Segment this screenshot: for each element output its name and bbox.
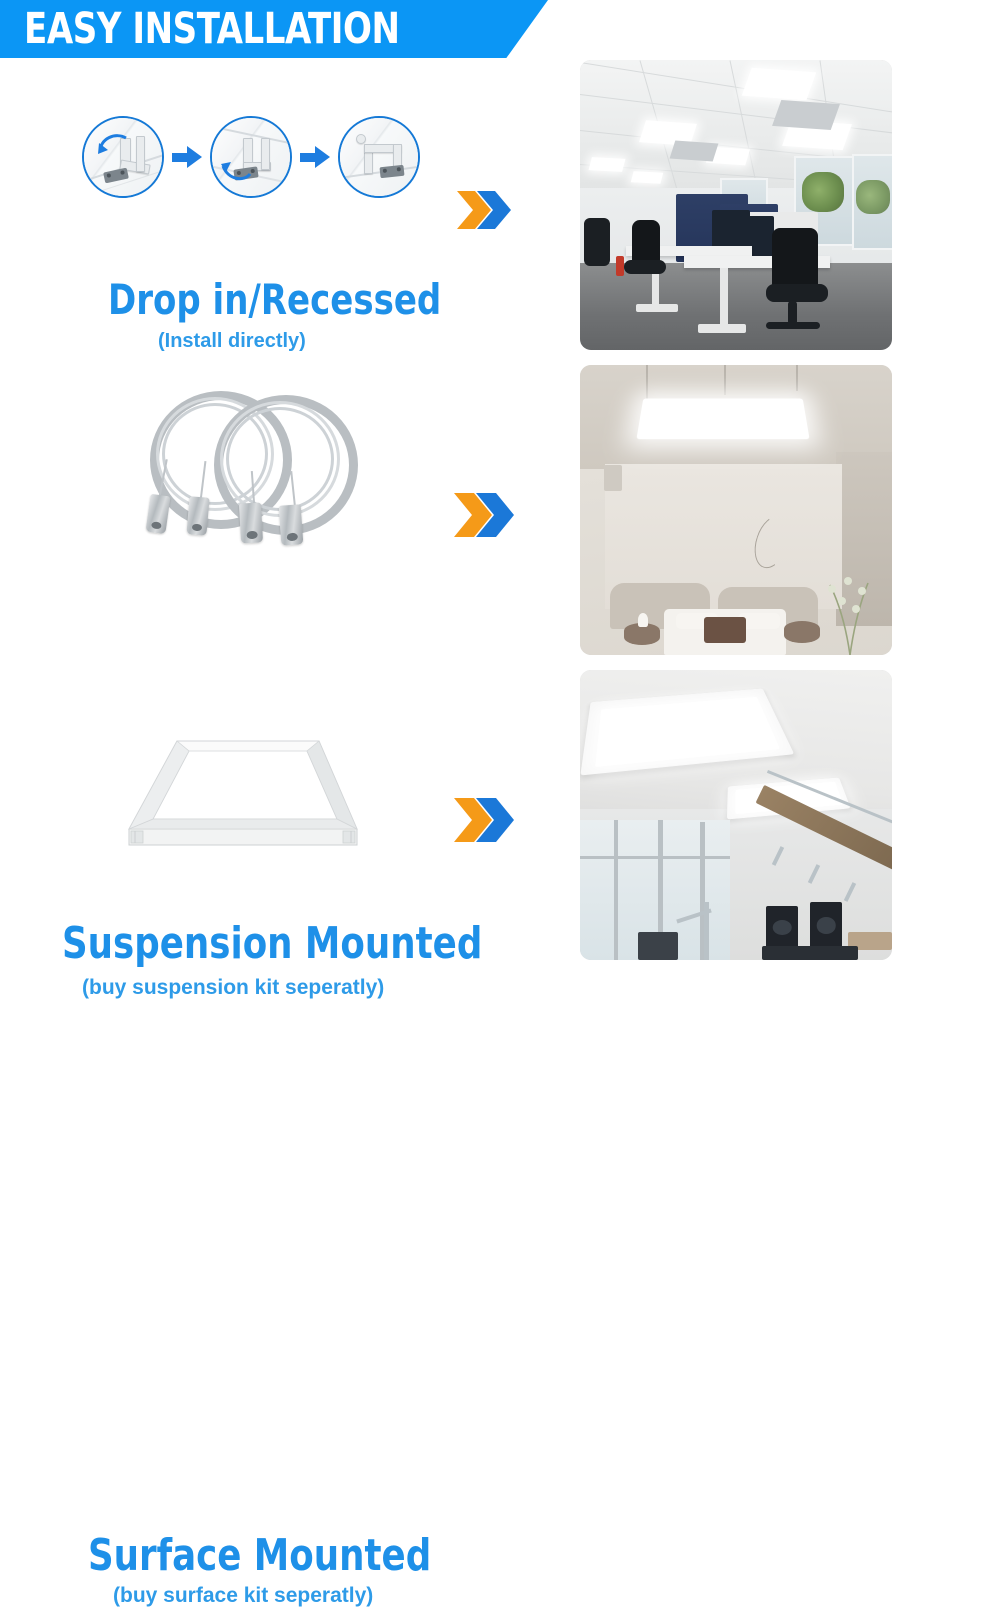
step-1-rotate-bracket-icon — [82, 116, 164, 198]
bedroom-suspended-panel-photo — [580, 365, 892, 655]
installation-step-sequence — [82, 116, 420, 198]
step-2-insert-bracket-icon — [210, 116, 292, 198]
double-chevron-right-icon — [452, 794, 514, 846]
surface-mounted-panels-photo — [580, 670, 892, 960]
section-2-photo-column — [580, 365, 892, 665]
step-arrow-1-icon — [172, 146, 202, 168]
office-recessed-panels-photo — [580, 60, 892, 350]
page-title: EASY INSTALLATION — [24, 8, 400, 51]
double-chevron-right-icon — [455, 187, 511, 233]
suspension-cable-kit-illustration — [140, 385, 370, 560]
section-3-subheading: (buy surface kit seperatly) — [113, 1585, 373, 1606]
section-1-chevron-wrap — [435, 60, 530, 360]
header-banner: EASY INSTALLATION — [0, 0, 548, 58]
section-3-heading: Surface Mounted — [88, 1534, 431, 1578]
section-2-chevron-wrap — [435, 365, 530, 665]
section-surface-mounted: Surface Mounted (buy surface kit seperat… — [0, 670, 1000, 970]
section-1-photo-column — [580, 60, 892, 360]
step-3-bracket-seated-icon — [338, 116, 420, 198]
infographic-page: EASY INSTALLATION — [0, 0, 1000, 1000]
double-chevron-right-icon — [452, 489, 514, 541]
section-drop-in-recessed: Drop in/Recessed (Install directly) — [0, 60, 1000, 360]
section-3-chevron-wrap — [435, 670, 530, 970]
section-suspension-mounted: Suspension Mounted (buy suspension kit s… — [0, 365, 1000, 665]
step-arrow-2-icon — [300, 146, 330, 168]
section-2-subheading: (buy suspension kit seperatly) — [82, 977, 384, 998]
section-1-subheading: (Install directly) — [158, 331, 306, 351]
section-3-photo-column — [580, 670, 892, 970]
section-1-heading: Drop in/Recessed — [108, 279, 441, 321]
surface-mount-frame-illustration — [105, 725, 375, 855]
